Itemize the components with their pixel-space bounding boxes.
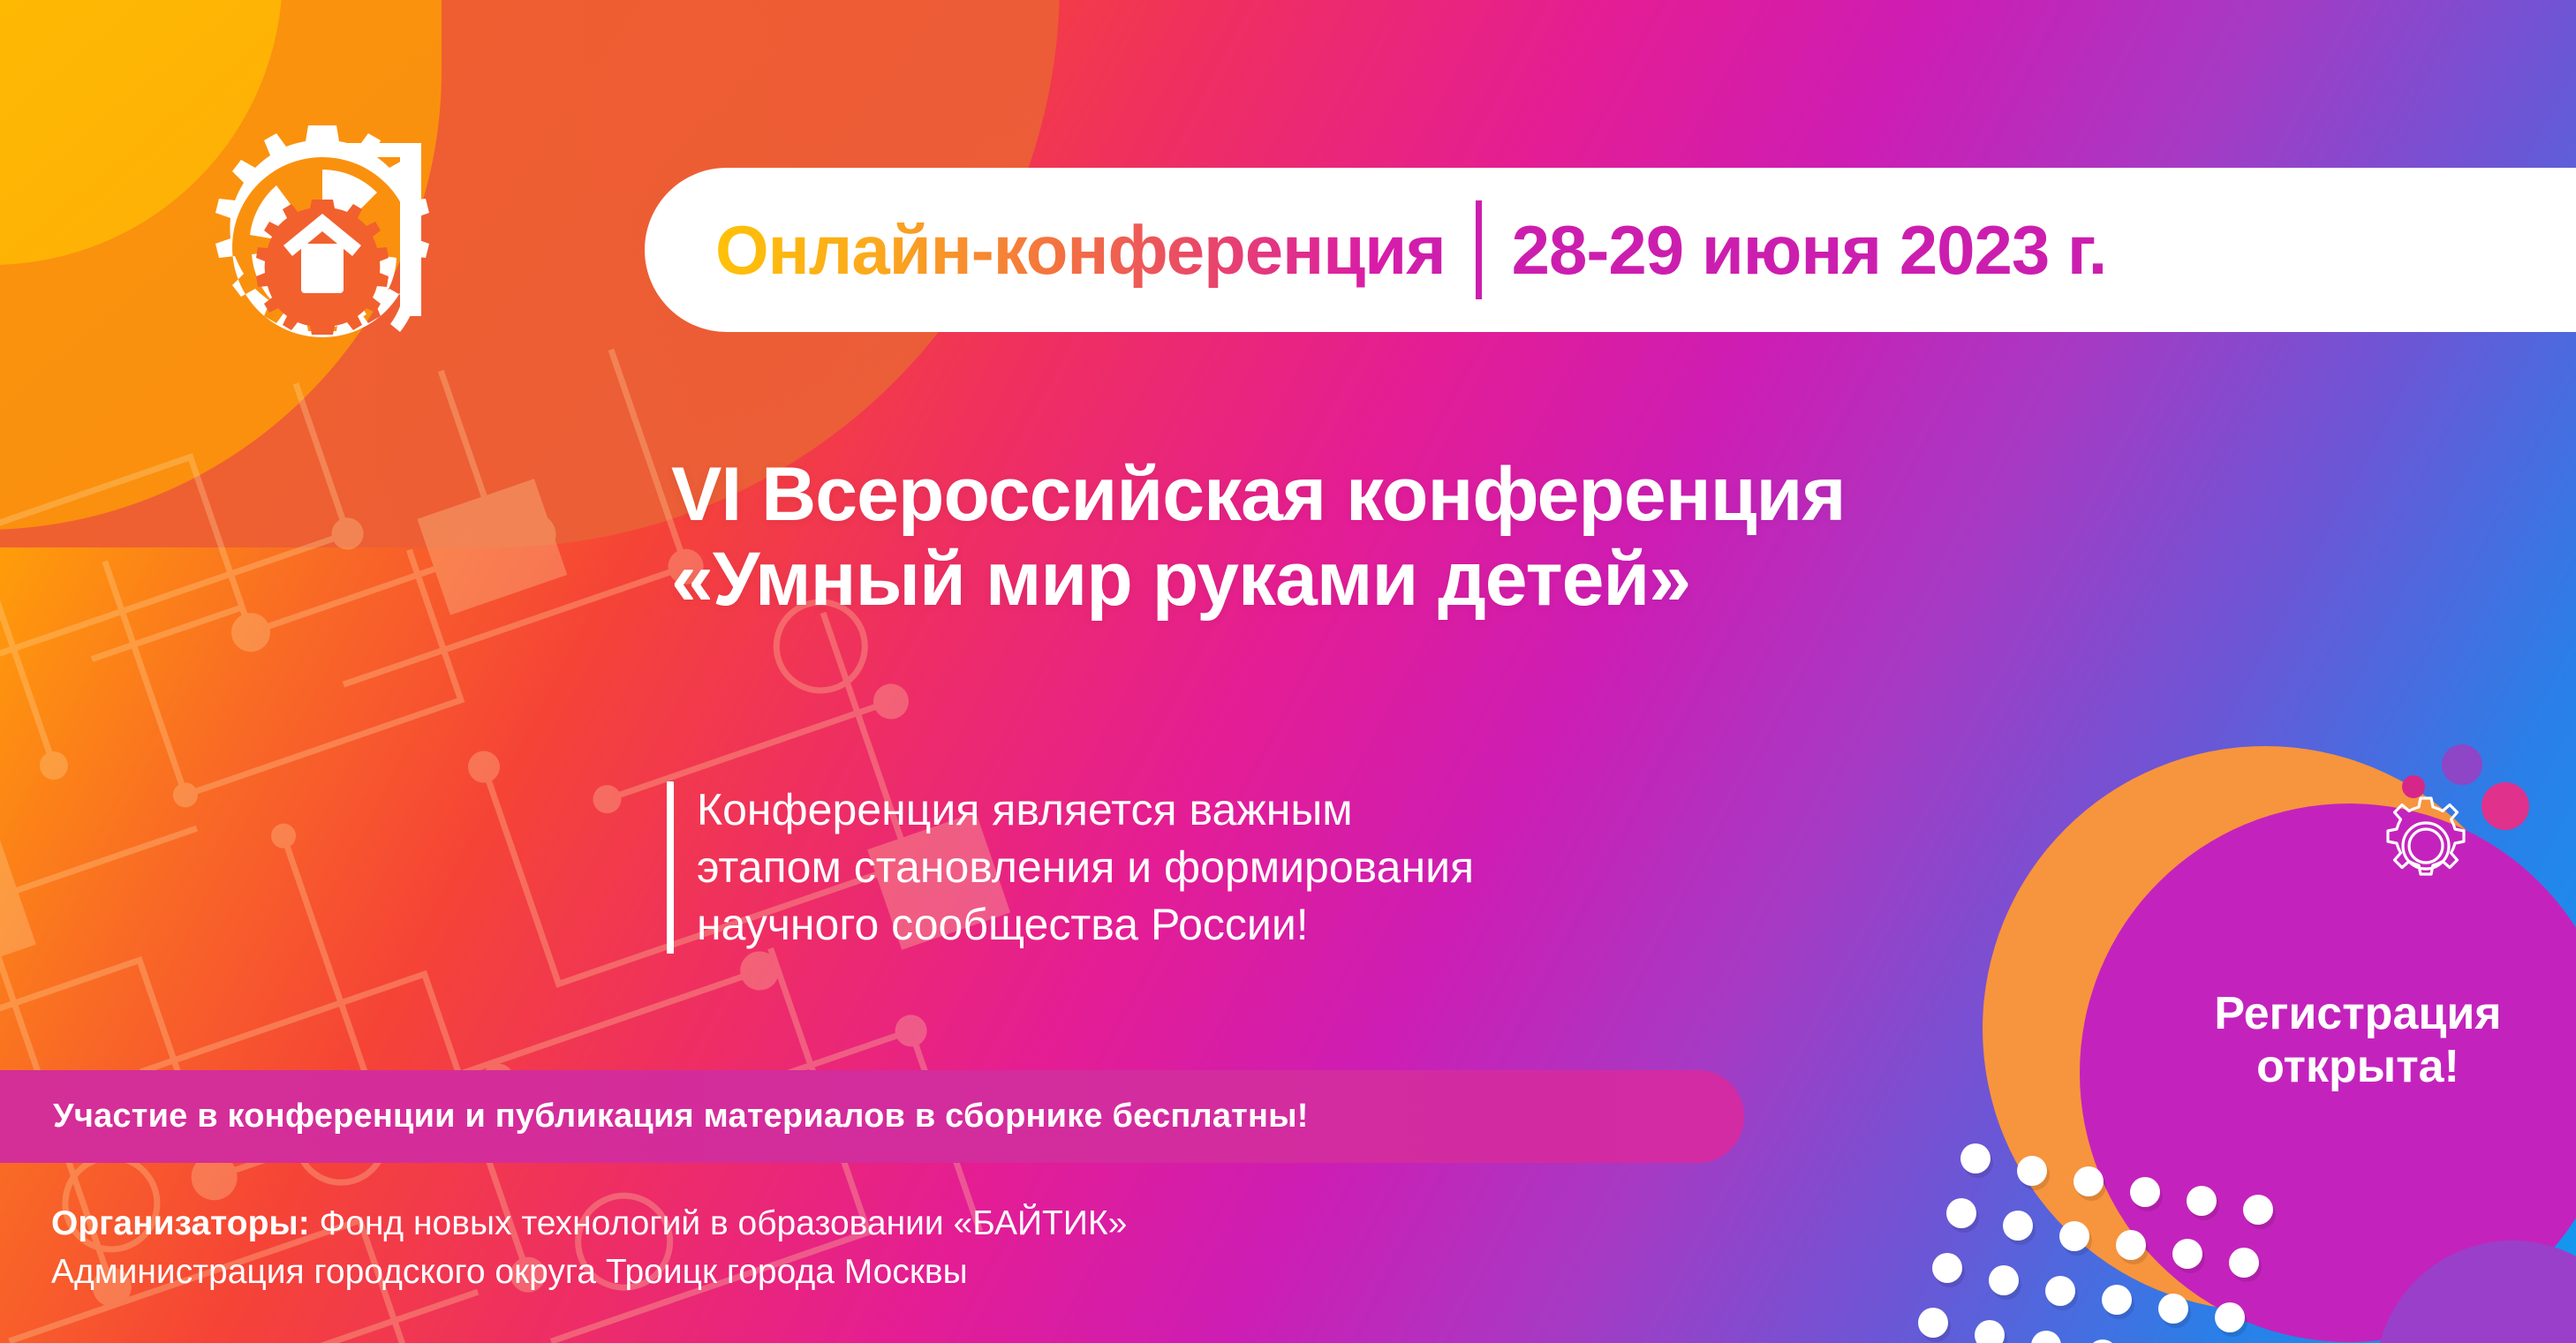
description-text: Конференция является важным этапом стано… bbox=[697, 781, 1474, 954]
organizers-block: Организаторы: Фонд новых технологий в об… bbox=[51, 1199, 1127, 1297]
gear-house-logo-icon bbox=[190, 115, 490, 380]
title-line-1: VI Всероссийская конференция bbox=[671, 452, 2225, 537]
page-title: VI Всероссийская конференция «Умный мир … bbox=[671, 452, 2225, 622]
decor-dot-grid bbox=[1925, 1135, 2384, 1343]
event-type-label: Онлайн-конференция bbox=[715, 210, 1446, 290]
registration-line-1: Регистрация bbox=[2119, 987, 2576, 1040]
description-line-1: Конференция является важным bbox=[697, 781, 1474, 839]
organizers-line-2: Администрация городского округа Троицк г… bbox=[51, 1248, 1127, 1296]
organizers-name-1: Фонд новых технологий в образовании «БАЙ… bbox=[310, 1204, 1128, 1242]
description-line-3: научного сообщества России! bbox=[697, 896, 1474, 954]
description-line-2: этапом становления и формирования bbox=[697, 839, 1474, 896]
conference-promo-banner: Онлайн-конференция 28-29 июня 2023 г. VI… bbox=[0, 0, 2576, 1343]
pill-divider bbox=[1476, 200, 1482, 299]
title-line-2: «Умный мир руками детей» bbox=[671, 537, 2225, 622]
organizers-line-1: Организаторы: Фонд новых технологий в об… bbox=[51, 1199, 1127, 1248]
decor-dot-pink-large bbox=[2482, 782, 2529, 830]
decor-dot-purple bbox=[2442, 744, 2482, 785]
free-participation-banner: Участие в конференции и публикация матер… bbox=[0, 1070, 1744, 1163]
organizers-label: Организаторы: bbox=[51, 1204, 310, 1242]
gear-outline-icon bbox=[2373, 793, 2479, 899]
registration-line-2: открыта! bbox=[2119, 1040, 2576, 1093]
free-participation-text: Участие в конференции и публикация матер… bbox=[53, 1098, 1309, 1136]
description-block: Конференция является важным этапом стано… bbox=[667, 781, 1474, 954]
registration-status-badge: Регистрация открыта! bbox=[2119, 987, 2576, 1094]
event-type-date-pill: Онлайн-конференция 28-29 июня 2023 г. bbox=[645, 168, 2576, 332]
event-date-label: 28-29 июня 2023 г. bbox=[1512, 210, 2107, 290]
description-accent-bar bbox=[667, 781, 674, 954]
